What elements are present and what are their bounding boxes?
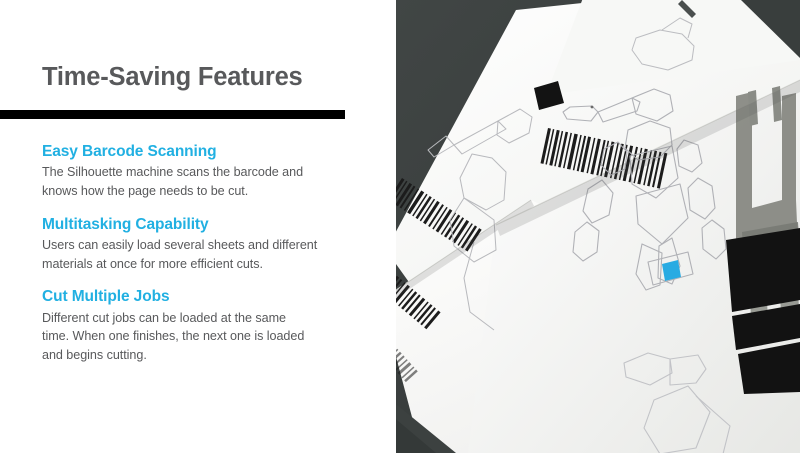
feature-heading: Cut Multiple Jobs: [42, 287, 372, 306]
feature-body: Users can easily load several sheets and…: [42, 236, 372, 273]
feature-heading: Multitasking Capability: [42, 215, 372, 234]
photo-cut-sheets-with-barcodes: [396, 0, 800, 453]
feature-list: Easy Barcode Scanning The Silhouette mac…: [42, 142, 372, 365]
slide-time-saving-features: Time-Saving Features Easy Barcode Scanni…: [0, 0, 800, 453]
title-underline-rule: [0, 110, 345, 119]
feature-body-line: Different cut jobs can be loaded at the …: [42, 309, 372, 328]
feature-item-cut-multiple-jobs: Cut Multiple Jobs Different cut jobs can…: [42, 287, 372, 364]
feature-body-line: and begins cutting.: [42, 346, 372, 365]
registration-dot: [591, 106, 594, 109]
feature-body-line: time. When one finishes, the next one is…: [42, 327, 372, 346]
feature-body: The Silhouette machine scans the barcode…: [42, 163, 372, 200]
feature-body-line: materials at once for more efficient cut…: [42, 255, 372, 274]
page-title: Time-Saving Features: [42, 63, 303, 92]
feature-heading: Easy Barcode Scanning: [42, 142, 372, 161]
feature-item-easy-barcode-scanning: Easy Barcode Scanning The Silhouette mac…: [42, 142, 372, 201]
feature-body: Different cut jobs can be loaded at the …: [42, 309, 372, 365]
left-text-panel: Time-Saving Features Easy Barcode Scanni…: [0, 0, 396, 453]
feature-body-line: Users can easily load several sheets and…: [42, 236, 372, 255]
feature-body-line: The Silhouette machine scans the barcode…: [42, 163, 372, 182]
feature-body-line: knows how the page needs to be cut.: [42, 182, 372, 201]
feature-item-multitasking-capability: Multitasking Capability Users can easily…: [42, 215, 372, 274]
